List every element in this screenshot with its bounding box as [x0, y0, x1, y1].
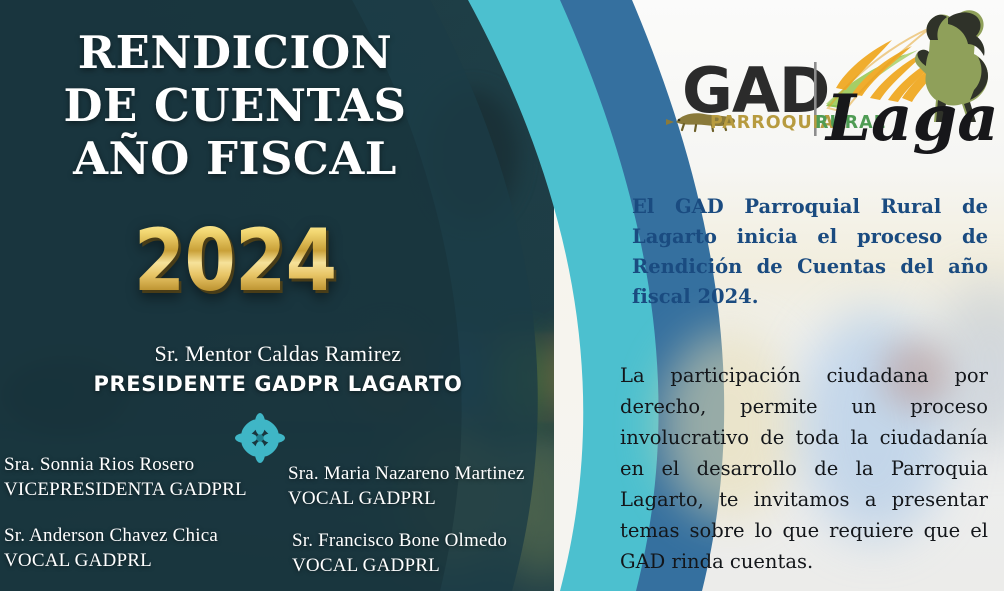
member-role: VICEPRESIDENTA GADPRL — [4, 477, 247, 502]
members-list: Sra. Sonnia Rios Rosero VICEPRESIDENTA G… — [0, 452, 560, 582]
left-content-panel: RENDICION DE CUENTAS AÑO FISCAL 2024 Sr.… — [0, 0, 560, 591]
member-name: Sra. Maria Nazareno Martinez — [288, 461, 525, 486]
list-item: Sr. Anderson Chavez Chica VOCAL GADPRL — [4, 523, 218, 573]
president-name: Sr. Mentor Caldas Ramirez — [0, 340, 556, 368]
member-name: Sr. Anderson Chavez Chica — [4, 523, 218, 548]
intro-paragraph: El GAD Parroquial Rural de Lagarto inici… — [632, 192, 988, 312]
fiscal-year-label: 2024 — [33, 218, 437, 304]
title-line-3: AÑO FISCAL — [0, 132, 470, 185]
member-role: VOCAL GADPRL — [4, 548, 218, 573]
member-name: Sr. Francisco Bone Olmedo — [292, 528, 507, 553]
list-item: Sra. Sonnia Rios Rosero VICEPRESIDENTA G… — [4, 452, 247, 502]
list-item: Sr. Francisco Bone Olmedo VOCAL GADPRL — [292, 528, 507, 578]
title-line-1: RENDICION — [0, 26, 470, 79]
member-name: Sra. Sonnia Rios Rosero — [4, 452, 247, 477]
logo-lagarto-text: Lagarto — [824, 81, 996, 154]
page-title: RENDICION DE CUENTAS AÑO FISCAL — [0, 26, 470, 185]
president-role: PRESIDENTE GADPR LAGARTO — [0, 371, 556, 397]
title-line-2: DE CUENTAS — [0, 79, 470, 132]
poster-canvas: RENDICION DE CUENTAS AÑO FISCAL 2024 Sr.… — [0, 0, 1004, 591]
member-role: VOCAL GADPRL — [288, 486, 525, 511]
gad-lagarto-logo: GAD PARROQUIAL RURAL Lagarto — [630, 4, 996, 154]
description-paragraph: La participación ciudadana por derecho, … — [620, 360, 988, 577]
list-item: Sra. Maria Nazareno Martinez VOCAL GADPR… — [288, 461, 525, 511]
right-content-panel: GAD PARROQUIAL RURAL Lagarto El GAD Parr… — [600, 0, 1004, 591]
member-role: VOCAL GADPRL — [292, 553, 507, 578]
president-block: Sr. Mentor Caldas Ramirez PRESIDENTE GAD… — [0, 340, 556, 397]
